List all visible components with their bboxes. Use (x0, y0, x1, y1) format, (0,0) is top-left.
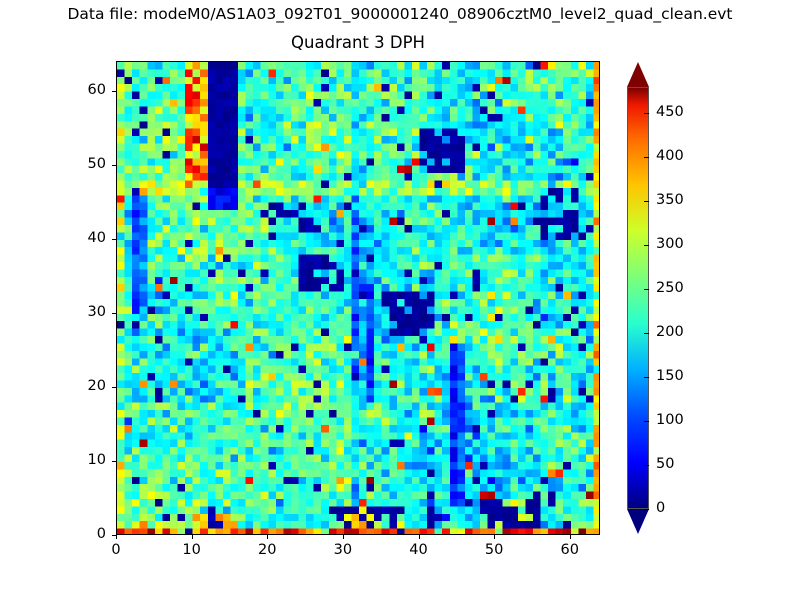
x-tick-label: 40 (389, 542, 449, 558)
axes-title: Quadrant 3 DPH (116, 33, 600, 52)
colorbar-tick-label: 150 (656, 368, 684, 384)
figure-suptitle: Data file: modeM0/AS1A03_092T01_90000012… (0, 5, 800, 23)
colorbar-tick-label: 200 (656, 324, 684, 340)
colorbar-tick-mark (644, 245, 649, 246)
colorbar-tick-mark (644, 465, 649, 466)
colorbar-tick-label: 450 (656, 104, 684, 120)
x-tick-mark (494, 535, 495, 539)
y-tick-label: 40 (60, 230, 106, 246)
matplotlib-figure: Data file: modeM0/AS1A03_092T01_90000012… (0, 0, 800, 600)
colorbar-tick-label: 400 (656, 148, 684, 164)
heatmap-plot-area[interactable] (116, 61, 600, 535)
colorbar-tick-mark (644, 157, 649, 158)
x-tick-mark (343, 535, 344, 539)
y-tick-label: 50 (60, 156, 106, 172)
y-tick-label: 30 (60, 304, 106, 320)
x-tick-label: 20 (237, 542, 297, 558)
colorbar-tick-label: 0 (656, 500, 665, 516)
y-tick-mark (112, 239, 116, 240)
x-tick-label: 10 (162, 542, 222, 558)
x-tick-mark (419, 535, 420, 539)
colorbar-tick-mark (644, 421, 649, 422)
colorbar-tick-label: 250 (656, 280, 684, 296)
colorbar-over-arrow-icon (627, 62, 649, 87)
colorbar-tick-mark (644, 289, 649, 290)
y-tick-mark (112, 313, 116, 314)
y-tick-label: 20 (60, 378, 106, 394)
colorbar-tick-mark (644, 113, 649, 114)
colorbar-tick-label: 50 (656, 456, 674, 472)
colorbar-tick-label: 300 (656, 236, 684, 252)
y-tick-label: 60 (60, 82, 106, 98)
colorbar-gradient (627, 87, 649, 509)
x-tick-label: 60 (540, 542, 600, 558)
colorbar-tick-mark (644, 509, 649, 510)
y-tick-mark (112, 165, 116, 166)
colorbar-tick-mark (644, 333, 649, 334)
colorbar-tick-mark (644, 377, 649, 378)
colorbar-tick-mark (644, 201, 649, 202)
y-tick-label: 10 (60, 452, 106, 468)
y-tick-mark (112, 461, 116, 462)
heatmap-image (117, 62, 600, 535)
colorbar-tick-label: 100 (656, 412, 684, 428)
y-tick-label: 0 (60, 526, 106, 542)
y-tick-mark (112, 387, 116, 388)
y-tick-mark (112, 91, 116, 92)
x-tick-mark (116, 535, 117, 539)
x-tick-mark (570, 535, 571, 539)
x-tick-label: 30 (313, 542, 373, 558)
colorbar-under-arrow-icon (627, 509, 649, 534)
x-tick-label: 0 (86, 542, 146, 558)
x-tick-mark (192, 535, 193, 539)
x-tick-mark (267, 535, 268, 539)
colorbar[interactable] (627, 61, 649, 535)
x-tick-label: 50 (464, 542, 524, 558)
colorbar-tick-label: 350 (656, 192, 684, 208)
